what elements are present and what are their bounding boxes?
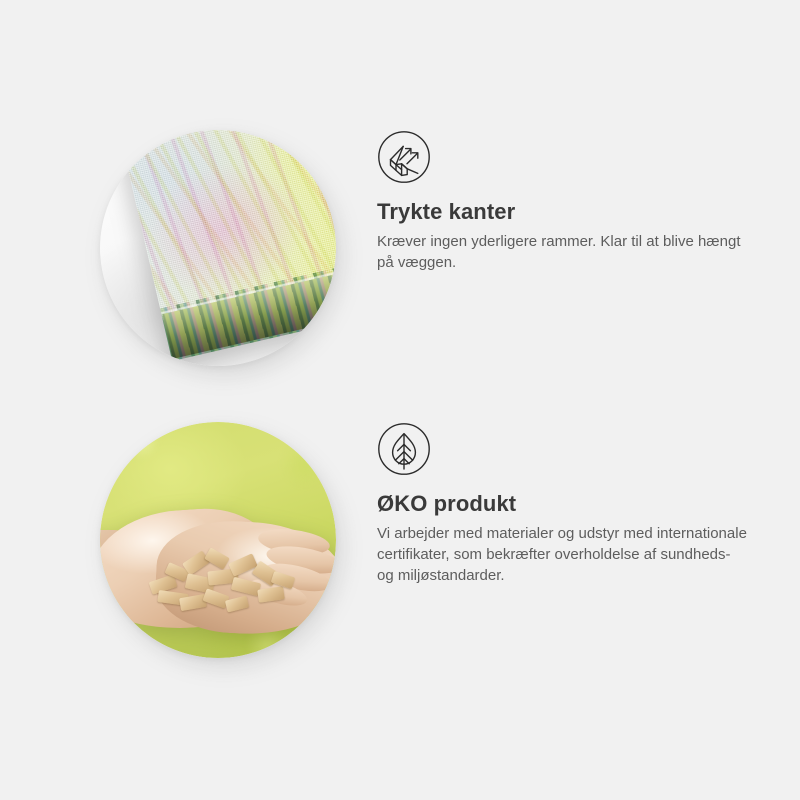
cupped-hands bbox=[100, 496, 336, 632]
eco-hands-photo bbox=[100, 422, 336, 658]
canvas-corner-photo-inner bbox=[100, 130, 336, 366]
product-features-page: Trykte kanter Kræver ingen yderligere ra… bbox=[0, 0, 800, 800]
canvas-corner-photo bbox=[100, 130, 336, 366]
feature-description: Kræver ingen yderligere rammer. Klar til… bbox=[377, 231, 749, 273]
wood-chip bbox=[257, 586, 285, 602]
feature-title: ØKO produkt bbox=[377, 491, 772, 517]
feature-printed-edges: Trykte kanter Kræver ingen yderligere ra… bbox=[0, 130, 800, 370]
feature-title: Trykte kanter bbox=[377, 199, 772, 225]
feature-eco-product-text: ØKO produkt Vi arbejder med materialer o… bbox=[377, 422, 772, 586]
wood-chip bbox=[204, 547, 230, 569]
leaf-icon bbox=[377, 422, 431, 476]
feature-eco-product: ØKO produkt Vi arbejder med materialer o… bbox=[0, 422, 800, 657]
feature-printed-edges-text: Trykte kanter Kræver ingen yderligere ra… bbox=[377, 130, 772, 273]
canvas-scene bbox=[100, 130, 336, 366]
feature-description: Vi arbejder med materialer og udstyr med… bbox=[377, 523, 749, 586]
wood-chip-heap bbox=[146, 548, 298, 618]
canvas-block bbox=[119, 130, 336, 361]
wood-chip bbox=[231, 577, 261, 596]
printed-edges-icon bbox=[377, 130, 431, 184]
eco-hands-photo-inner bbox=[100, 422, 336, 658]
